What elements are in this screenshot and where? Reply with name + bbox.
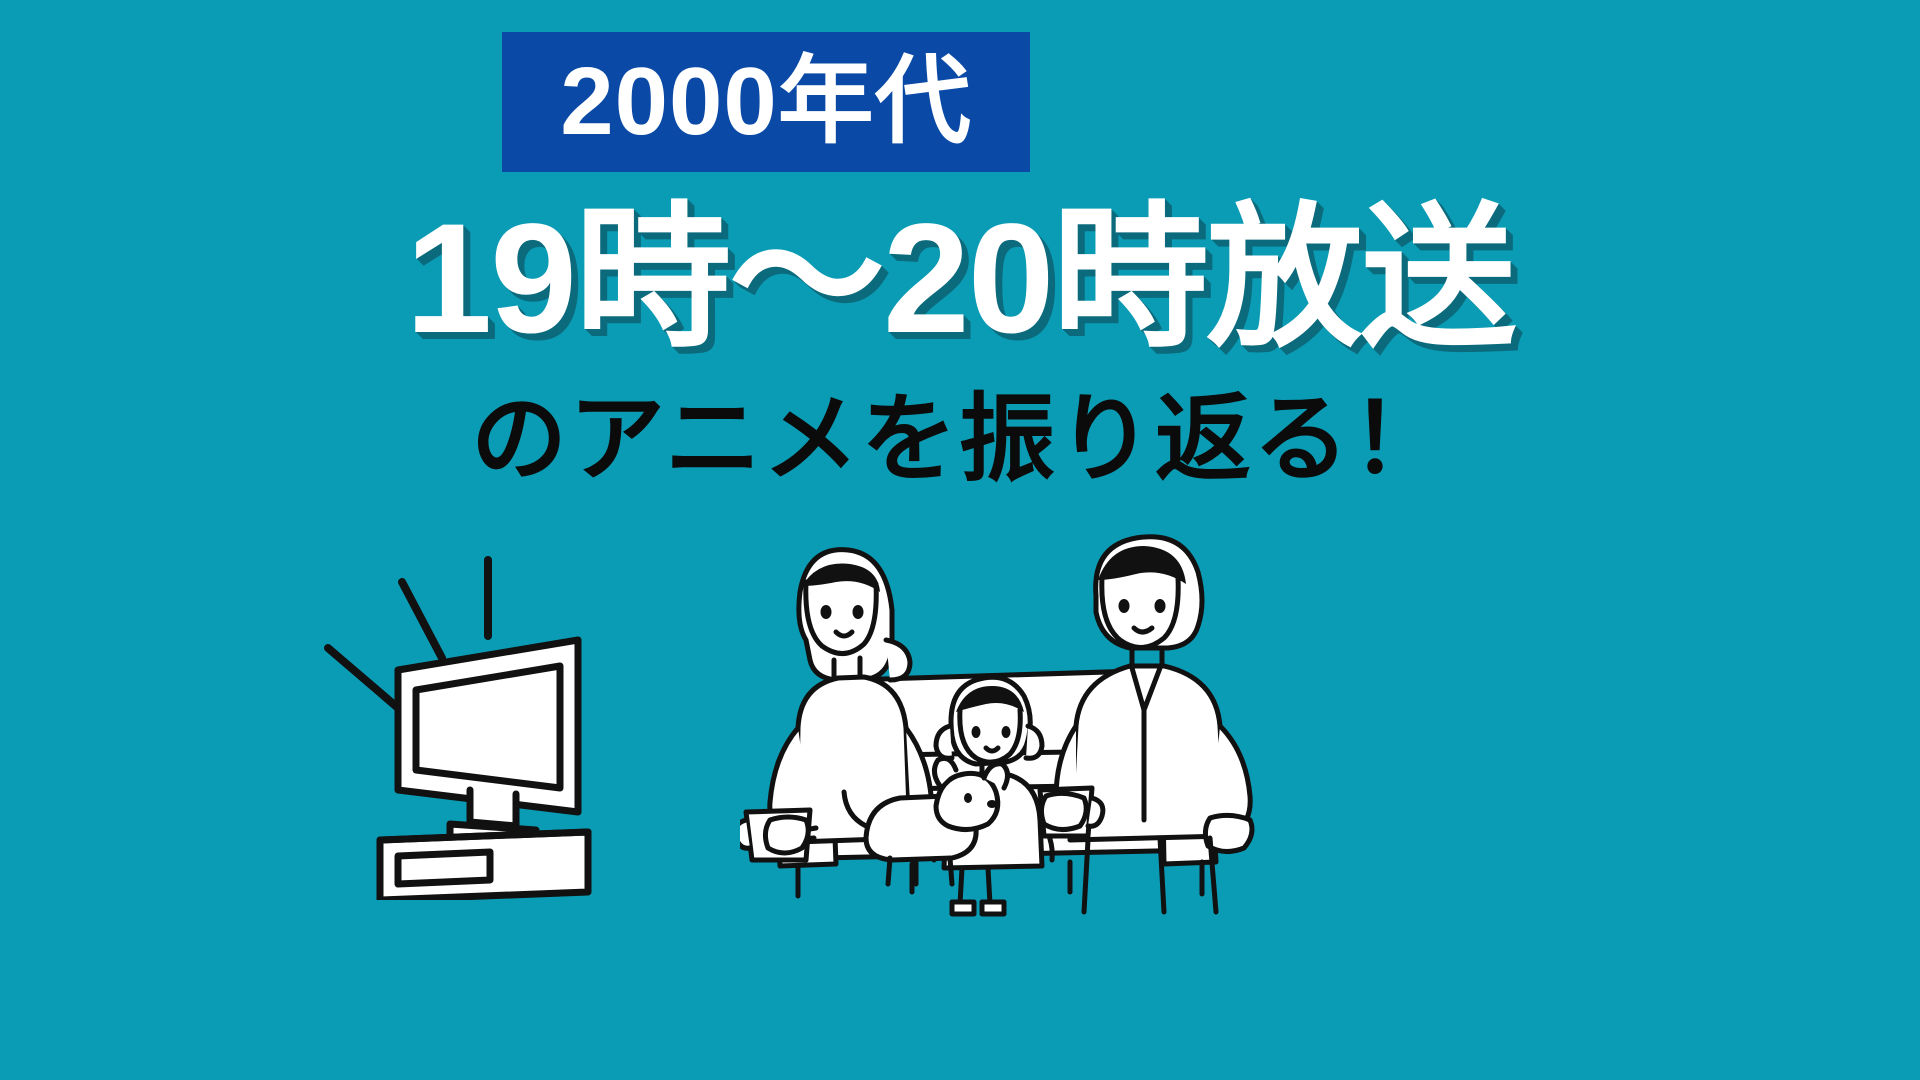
headline: 19時〜20時放送 [0,198,1920,362]
tv-screen [398,640,578,812]
headline-text: 19時〜20時放送 [405,198,1514,362]
subhead: のアニメを振り返る！ [0,390,1920,491]
family-illustration [740,520,1300,920]
tv-illustration [320,540,640,900]
decade-badge-label: 2000年代 [560,54,972,150]
tv-cabinet [380,832,588,900]
subhead-text: のアニメを振り返る！ [471,390,1449,491]
decade-badge: 2000年代 [502,32,1030,172]
poster-canvas: 2000年代 19時〜20時放送 のアニメを振り返る！ [0,0,1920,1080]
